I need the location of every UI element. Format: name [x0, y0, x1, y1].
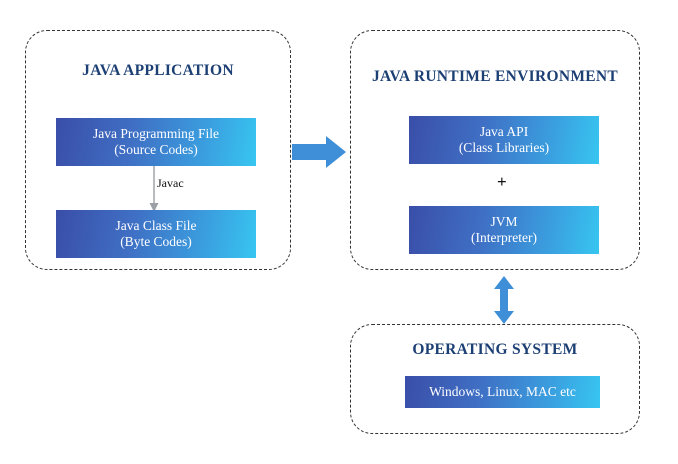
- box-jvm: JVM (Interpreter): [409, 206, 599, 254]
- box-operating-systems-line1: Windows, Linux, MAC etc: [429, 384, 576, 400]
- box-java-class-file: Java Class File (Byte Codes): [56, 210, 256, 258]
- group-title-operating-system: OPERATING SYSTEM: [350, 341, 640, 359]
- group-title-java-application: JAVA APPLICATION: [25, 62, 291, 80]
- box-java-programming-file-line1: Java Programming File: [93, 126, 219, 142]
- app-to-jre-arrow: [292, 132, 348, 172]
- box-java-class-file-line1: Java Class File: [116, 218, 197, 234]
- box-java-api: Java API (Class Libraries): [409, 116, 599, 164]
- label-javac: Javac: [157, 176, 184, 191]
- diagram-canvas: JAVA APPLICATION Java Programming File (…: [0, 0, 678, 464]
- plus-sign: +: [497, 172, 507, 192]
- box-jvm-line1: JVM: [490, 214, 517, 230]
- box-java-class-file-line2: (Byte Codes): [120, 234, 192, 250]
- box-java-programming-file-line2: (Source Codes): [114, 142, 198, 158]
- box-java-programming-file: Java Programming File (Source Codes): [56, 118, 256, 166]
- box-java-api-line2: (Class Libraries): [459, 140, 549, 156]
- box-jvm-line2: (Interpreter): [471, 230, 537, 246]
- box-java-api-line1: Java API: [480, 124, 528, 140]
- group-title-java-runtime-environment: JAVA RUNTIME ENVIRONMENT: [350, 68, 640, 86]
- jre-to-os-arrow: [489, 276, 519, 324]
- box-operating-systems: Windows, Linux, MAC etc: [405, 376, 600, 408]
